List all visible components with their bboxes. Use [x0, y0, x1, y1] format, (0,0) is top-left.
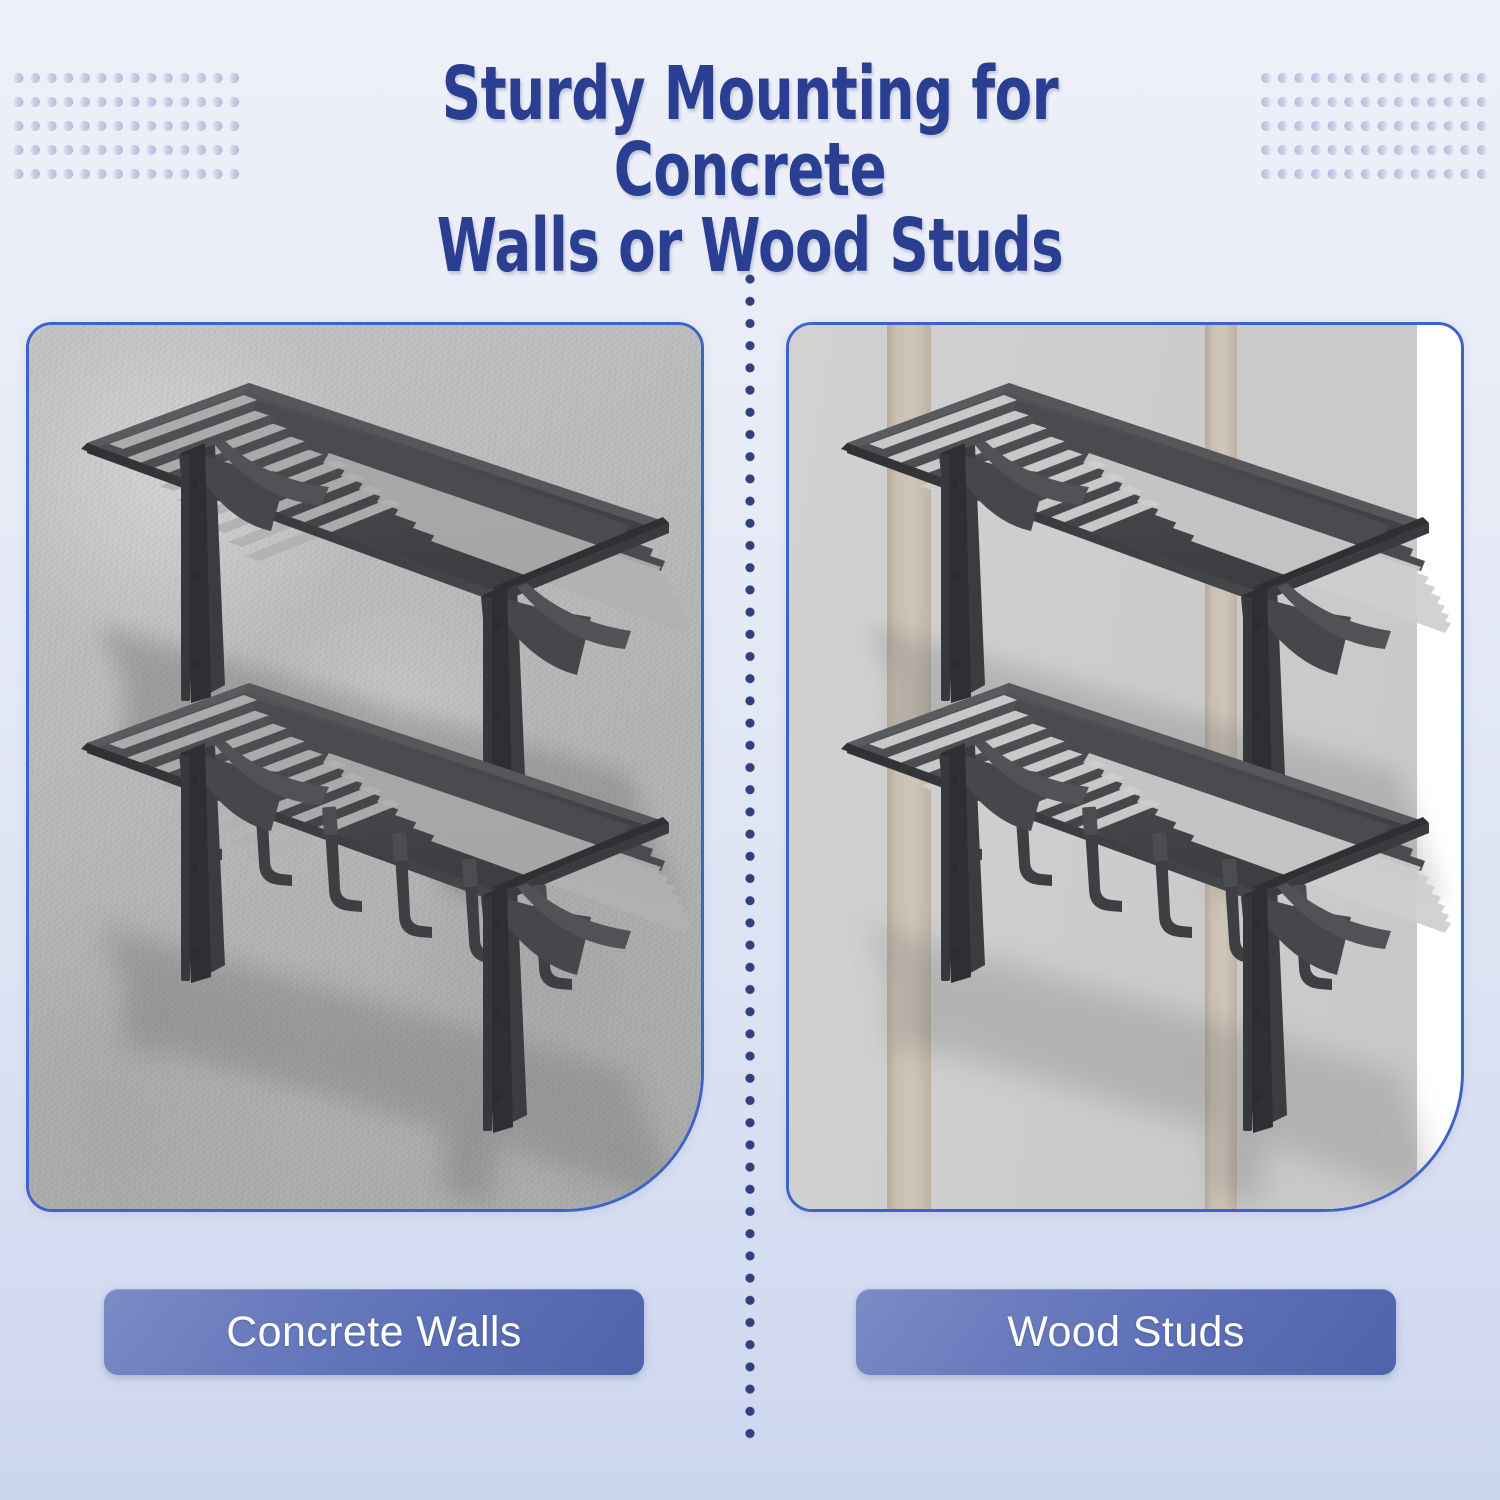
dot-pattern-left [10, 66, 242, 190]
page-title: Sturdy Mounting for Concrete Walls or Wo… [340, 56, 1160, 285]
wood-stud-panel [786, 322, 1464, 1212]
dot-pattern-right [1258, 66, 1490, 190]
caption-wood-studs[interactable]: Wood Studs [856, 1289, 1396, 1375]
concrete-wall-panel [26, 322, 704, 1212]
vertical-dotted-divider [744, 268, 756, 1443]
caption-concrete-walls[interactable]: Concrete Walls [104, 1289, 644, 1375]
caption-wood-studs-label: Wood Studs [1007, 1308, 1244, 1357]
concrete-panel-shelves [29, 325, 701, 1209]
caption-concrete-walls-label: Concrete Walls [226, 1308, 522, 1357]
wood-panel-shelves [789, 325, 1461, 1209]
